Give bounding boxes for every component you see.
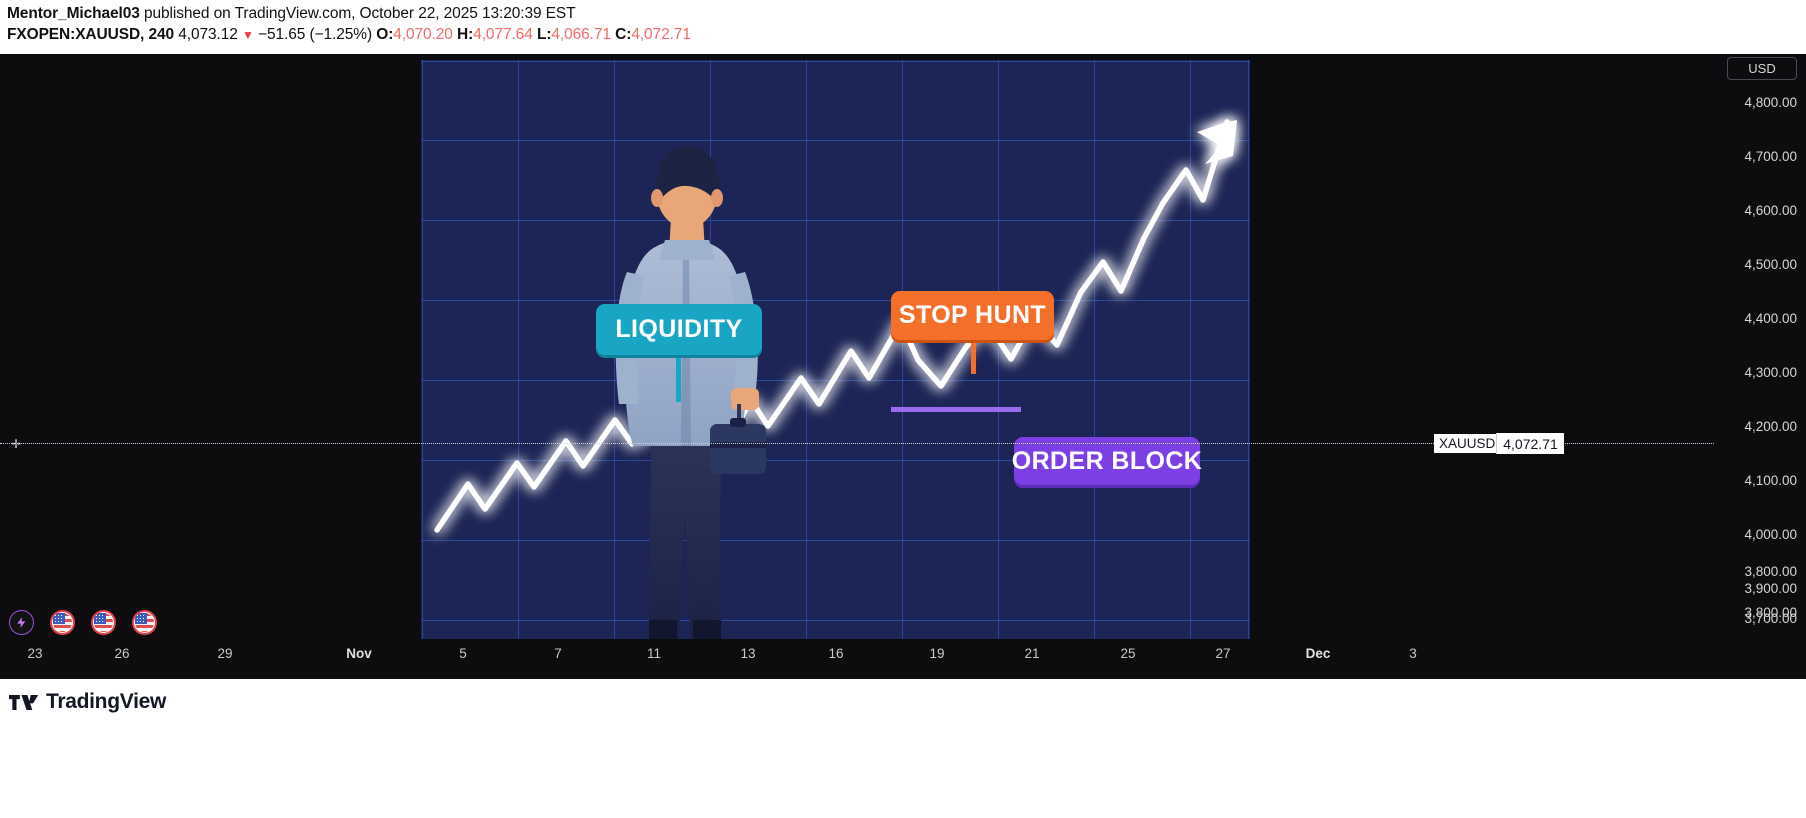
open-value: 4,070.20	[393, 26, 453, 43]
time-tick-6: 11	[647, 646, 661, 661]
tradingview-chart-screenshot: Mentor_Michael03 published on TradingVie…	[0, 0, 1806, 818]
price-tick-4800: 4,800.00	[1744, 95, 1797, 110]
us-flag-icon-1[interactable]	[50, 610, 75, 635]
tradingview-logo[interactable]: TradingView	[9, 690, 166, 714]
time-tick-14: 3	[1409, 646, 1417, 661]
price-tick-4400: 4,400.00	[1744, 311, 1797, 326]
time-tick-4: 5	[459, 646, 467, 661]
annotation-liquidity-label: LIQUIDITY	[615, 315, 742, 344]
time-tick-8: 16	[828, 646, 843, 661]
down-triangle-icon: ▼	[242, 28, 254, 42]
chart-area[interactable]: LIQUIDITY STOP HUNT ORDER BLOCK ✛	[0, 54, 1806, 639]
price-tick-4700: 4,700.00	[1744, 149, 1797, 164]
time-tick-11: 25	[1120, 646, 1135, 661]
time-tick-10: 21	[1024, 646, 1039, 661]
time-tick-12: 27	[1215, 646, 1230, 661]
us-flag-icon-2[interactable]	[91, 610, 116, 635]
time-tick-13: Dec	[1306, 646, 1331, 661]
time-tick-2: 29	[217, 646, 232, 661]
change-percent: (−1.25%)	[309, 26, 372, 43]
high-value: 4,077.64	[473, 26, 533, 43]
close-key: C:	[615, 26, 631, 43]
annotation-liquidity[interactable]: LIQUIDITY	[596, 304, 762, 355]
order-block-line	[891, 407, 1021, 412]
price-tag-value: 4,072.71	[1496, 433, 1564, 454]
price-tick-4600: 4,600.00	[1744, 203, 1797, 218]
annotation-order-block[interactable]: ORDER BLOCK	[1014, 437, 1200, 485]
time-tick-3: Nov	[346, 646, 372, 661]
close-value: 4,072.71	[631, 26, 691, 43]
low-value: 4,066.71	[551, 26, 611, 43]
annotation-order-block-label: ORDER BLOCK	[1012, 447, 1203, 476]
stop-hunt-stem	[971, 339, 976, 374]
price-tick-4300: 4,300.00	[1744, 365, 1797, 380]
tradingview-mark-icon	[9, 693, 39, 712]
high-key: H:	[457, 26, 473, 43]
open-key: O:	[376, 26, 393, 43]
footer: TradingView	[0, 679, 1806, 818]
time-axis[interactable]: 23 26 29 Nov 5 7 11 13 16 19 21 25 27 De…	[0, 639, 1806, 679]
symbol-label[interactable]: FXOPEN:XAUUSD, 240	[7, 26, 174, 43]
chart-pane[interactable]: LIQUIDITY STOP HUNT ORDER BLOCK ✛	[0, 54, 1714, 639]
price-tick-3800: 3,800.00	[1744, 605, 1797, 620]
low-key: L:	[537, 26, 551, 43]
time-tick-1: 26	[114, 646, 129, 661]
price-tick-4000: 4,000.00	[1744, 527, 1797, 542]
time-tick-7: 13	[740, 646, 755, 661]
time-tick-0: 23	[27, 646, 42, 661]
time-tick-9: 19	[929, 646, 944, 661]
change-absolute: −51.65	[258, 26, 305, 43]
price-axis[interactable]: USD 4,800.00 4,700.00 4,600.00 4,500.00 …	[1714, 54, 1806, 639]
businessman-illustration	[616, 146, 766, 639]
time-tick-5: 7	[554, 646, 562, 661]
lightning-icon[interactable]	[9, 610, 34, 635]
tradingview-wordmark: TradingView	[46, 690, 166, 714]
price-tick-4500: 4,500.00	[1744, 257, 1797, 272]
price-crosshair-marker: ✛	[11, 438, 21, 450]
price-tag-symbol: XAUUSD	[1434, 434, 1500, 453]
symbol-quote-line: FXOPEN:XAUUSD, 240 4,073.12 ▼ −51.65 (−1…	[7, 26, 691, 44]
annotation-stop-hunt-label: STOP HUNT	[899, 301, 1046, 330]
currency-badge[interactable]: USD	[1727, 57, 1797, 80]
us-flag-icon-3[interactable]	[132, 610, 157, 635]
publication-line: Mentor_Michael03 published on TradingVie…	[7, 5, 576, 23]
price-tick-4100: 4,100.00	[1744, 473, 1797, 488]
price-tick-4200: 4,200.00	[1744, 419, 1797, 434]
annotation-stop-hunt[interactable]: STOP HUNT	[891, 291, 1054, 340]
economic-events-row	[9, 610, 157, 635]
chart-illustration	[421, 60, 1250, 639]
liquidity-stem	[676, 354, 681, 402]
uptrend-line-illustration	[421, 60, 1250, 639]
chart-header: Mentor_Michael03 published on TradingVie…	[0, 0, 1806, 54]
last-price: 4,073.12	[178, 26, 238, 43]
price-tick-3900: 3,900.00	[1744, 581, 1797, 596]
author-name: Mentor_Michael03	[7, 5, 140, 22]
publication-meta: published on TradingView.com, October 22…	[140, 5, 576, 22]
